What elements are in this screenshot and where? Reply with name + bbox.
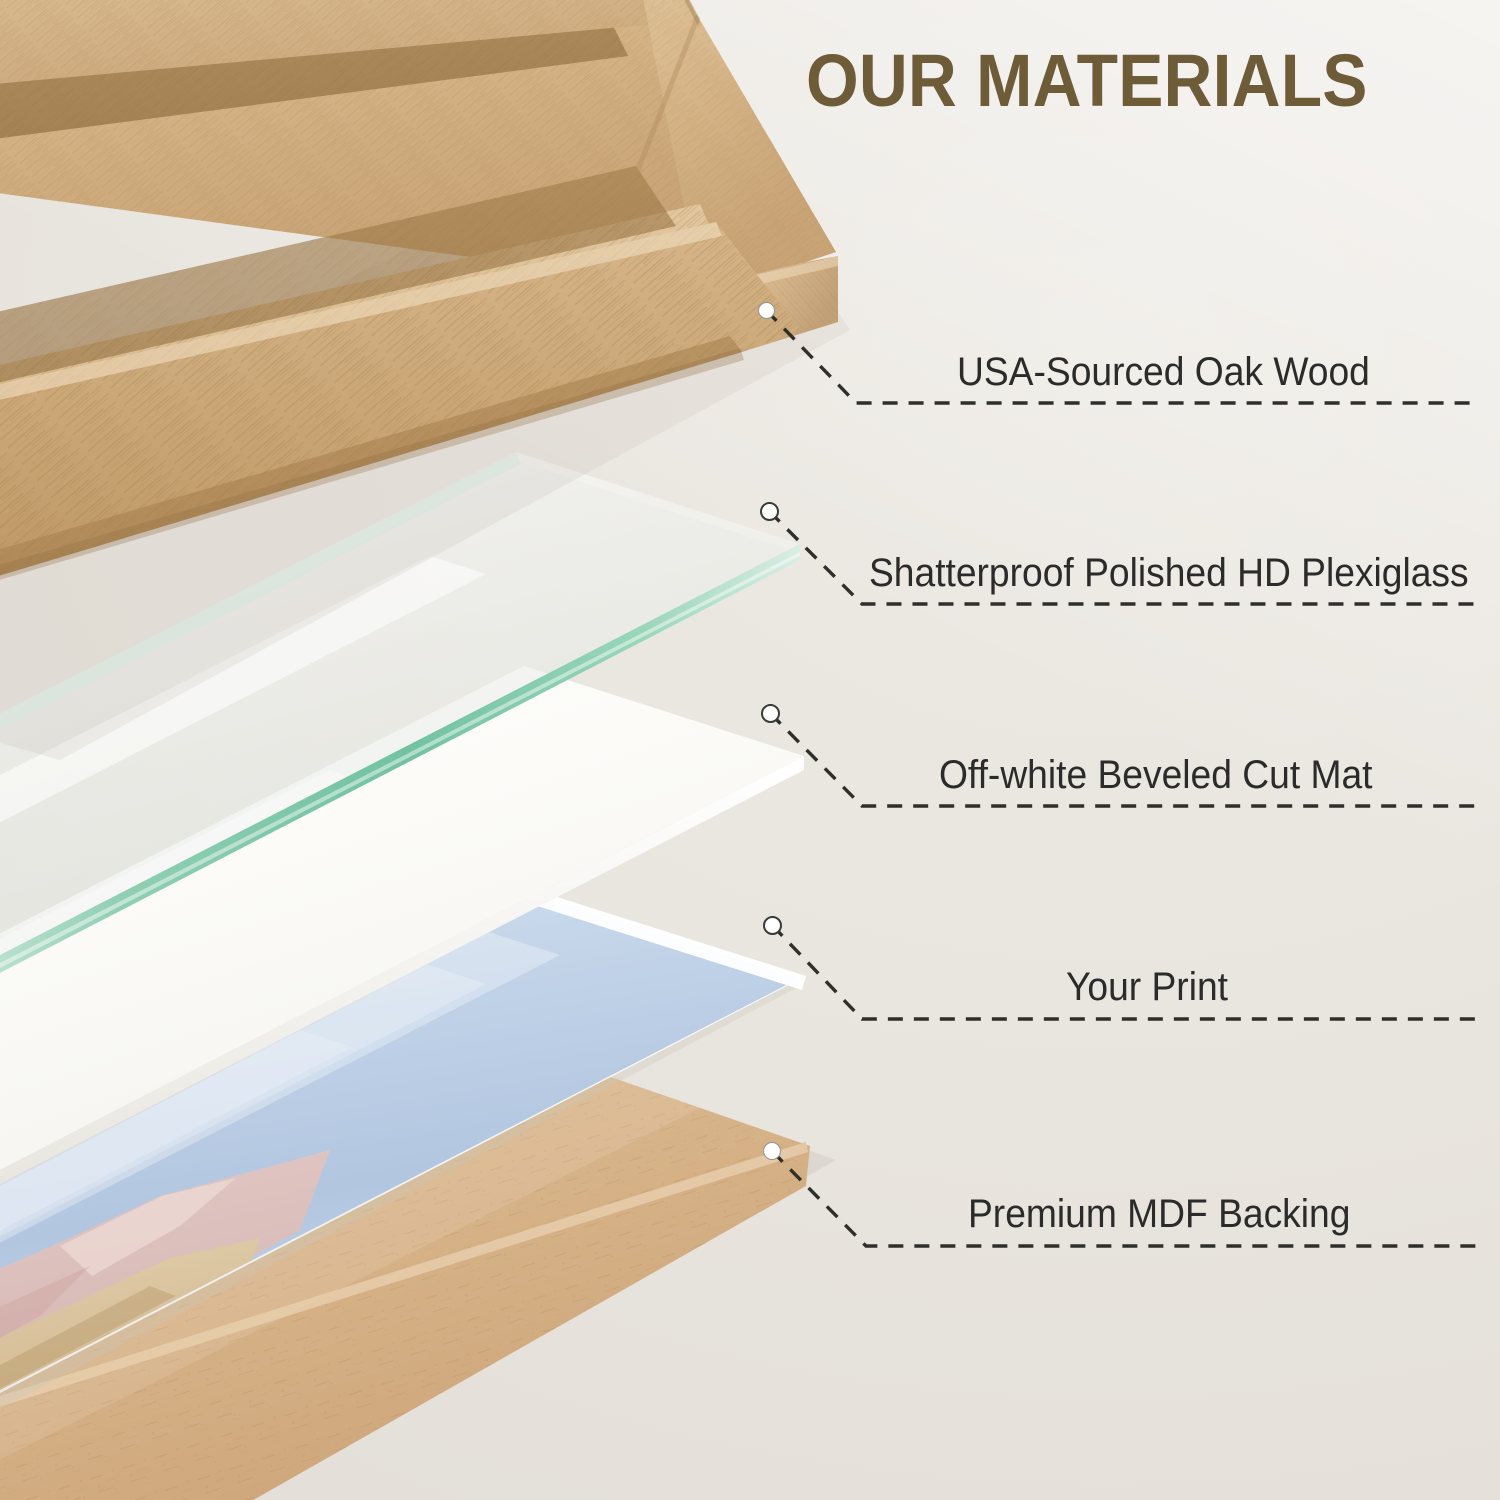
callout-marker-mdf-backing[interactable] (763, 1142, 781, 1160)
callout-label-oak-wood: USA-Sourced Oak Wood (957, 352, 1370, 392)
page-title: OUR MATERIALS (806, 44, 1428, 118)
exploded-frame-illustration (0, 0, 1500, 1500)
infographic-canvas: OUR MATERIALS USA-Sourced Oak WoodShatte… (0, 0, 1500, 1500)
callout-marker-plexiglass[interactable] (760, 502, 779, 521)
callout-label-mdf-backing: Premium MDF Backing (968, 1194, 1350, 1234)
callout-marker-cut-mat[interactable] (761, 704, 780, 723)
callout-marker-oak-wood[interactable] (758, 302, 775, 319)
callout-label-plexiglass: Shatterproof Polished HD Plexiglass (869, 553, 1469, 593)
callout-label-your-print: Your Print (1066, 967, 1228, 1007)
callout-label-cut-mat: Off-white Beveled Cut Mat (939, 755, 1373, 795)
callout-marker-your-print[interactable] (763, 916, 782, 935)
